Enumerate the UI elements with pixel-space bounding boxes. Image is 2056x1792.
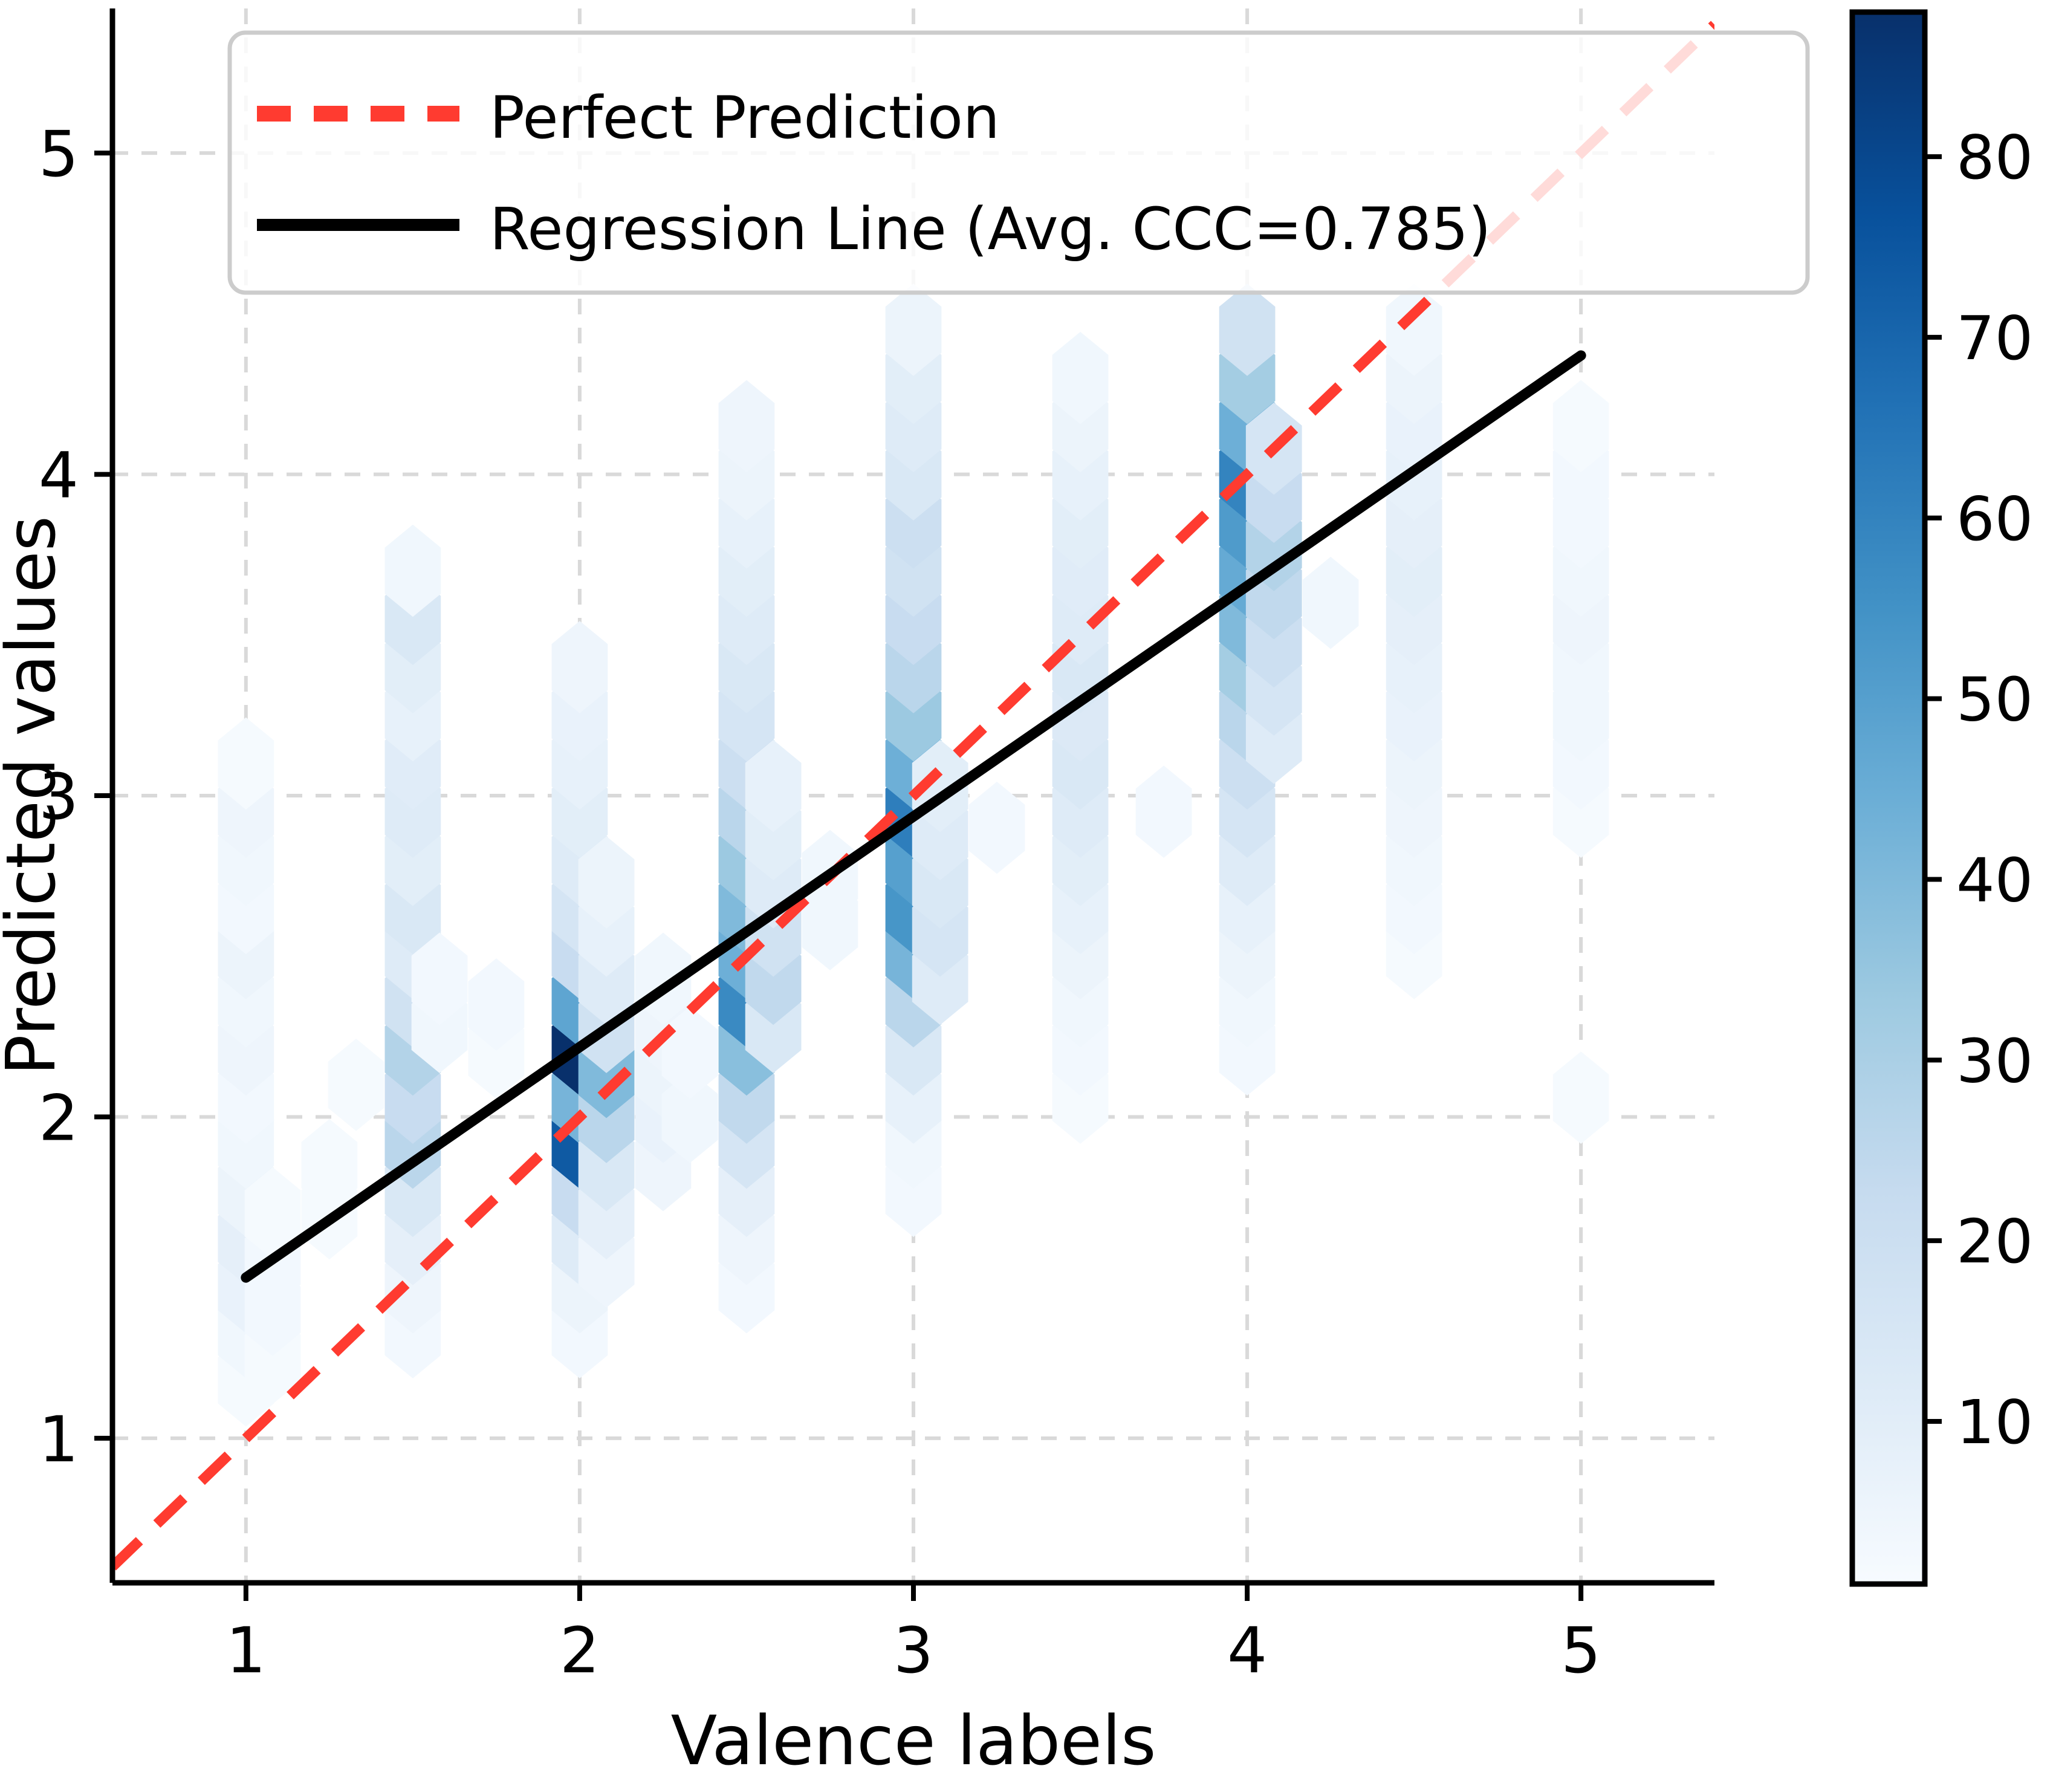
colorbar-gradient — [1852, 12, 1925, 1584]
colorbar-tick-label: 50 — [1956, 664, 2033, 735]
x-axis-title: Valence labels — [671, 1702, 1156, 1781]
y-tick-label: 2 — [39, 1081, 79, 1155]
colorbar-tick-label: 80 — [1956, 122, 2033, 193]
colorbar[interactable]: 8070605040302010 — [1852, 12, 2033, 1584]
x-tick-label: 4 — [1227, 1614, 1267, 1687]
x-tick-label: 3 — [893, 1614, 933, 1687]
legend-label-perfect-prediction: Perfect Prediction — [490, 84, 1000, 152]
x-tick-label: 1 — [226, 1614, 266, 1687]
colorbar-tick-label: 20 — [1956, 1206, 2033, 1277]
x-tick-label: 5 — [1561, 1614, 1601, 1687]
hexbin-figure: 12345 12345 Valence labels Predicted val… — [0, 0, 2056, 1792]
y-tick-label: 4 — [39, 439, 79, 513]
x-tick-label: 2 — [560, 1614, 600, 1687]
colorbar-ticks: 8070605040302010 — [1925, 122, 2033, 1458]
colorbar-tick-label: 10 — [1956, 1387, 2033, 1458]
figure-canvas: 12345 12345 Valence labels Predicted val… — [0, 0, 2056, 1792]
y-axis-title: Predicted values — [0, 516, 71, 1076]
y-tick-label: 1 — [39, 1403, 79, 1476]
legend[interactable]: Perfect Prediction Regression Line (Avg.… — [230, 33, 1808, 293]
colorbar-tick-label: 30 — [1956, 1025, 2033, 1096]
legend-label-regression-line: Regression Line (Avg. CCC=0.785) — [490, 195, 1491, 263]
y-tick-label: 5 — [39, 117, 79, 191]
colorbar-tick-label: 40 — [1956, 845, 2033, 915]
colorbar-tick-label: 60 — [1956, 484, 2033, 554]
x-axis-ticks: 12345 — [226, 1583, 1601, 1687]
colorbar-tick-label: 70 — [1956, 303, 2033, 374]
